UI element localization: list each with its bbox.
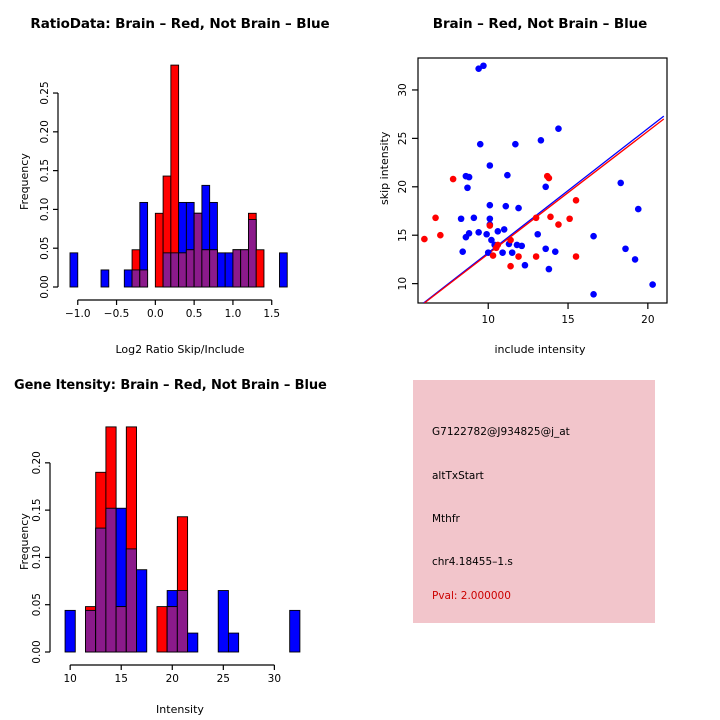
histogram-bar-overlap [241, 250, 249, 287]
x-tick-label: 10 [63, 673, 76, 685]
scatter-point [547, 214, 554, 221]
histogram-bar-blue [228, 633, 238, 652]
reference-line [424, 119, 663, 303]
histogram-bar-blue [101, 270, 109, 287]
histogram-bar-overlap [210, 250, 218, 287]
scatter-point [552, 248, 559, 255]
histogram-bar-overlap [167, 607, 177, 652]
histogram-bar-overlap [132, 270, 140, 287]
histogram-bar-overlap [202, 250, 210, 287]
scatter-point [458, 215, 465, 222]
info-gene-symbol: Mthfr [432, 513, 460, 525]
scatter-point [573, 253, 580, 260]
y-tick-label: 0.10 [39, 198, 51, 221]
y-tick-label: 0.15 [31, 498, 43, 521]
histogram-bar-blue [137, 570, 147, 652]
ratio-histogram-x-axis-label: Log2 Ratio Skip/Include [0, 343, 360, 356]
ratio-histogram-plot: 0.000.050.100.150.200.25−1.0−0.50.00.51.… [0, 0, 360, 360]
y-tick-label: 0.15 [39, 159, 51, 182]
scatter-point [501, 226, 508, 233]
scatter-title: Brain – Red, Not Brain – Blue [360, 16, 720, 32]
histogram-bar-blue [217, 253, 225, 287]
y-tick-label: 0.20 [31, 451, 43, 474]
y-tick-label: 0.25 [39, 81, 51, 104]
scatter-content [421, 62, 664, 303]
scatter-point [432, 214, 439, 221]
histogram-bar-blue [124, 270, 132, 287]
histogram-bar-overlap [194, 213, 202, 287]
ratio-histogram-y-axis-label: Frequency [18, 153, 31, 210]
info-coordinate: chr4.18455–1.s [432, 556, 513, 568]
x-tick-label: −1.0 [65, 308, 91, 320]
scatter-point [546, 175, 553, 182]
y-tick-label: 25 [397, 132, 409, 145]
y-tick-label: 0.10 [31, 546, 43, 569]
x-tick-label: −0.5 [104, 308, 130, 320]
info-panel-background [413, 380, 655, 623]
scatter-point [635, 206, 642, 213]
scatter-point [555, 221, 562, 228]
scatter-x-axis-label: include intensity [360, 343, 720, 356]
scatter-point [509, 249, 516, 256]
histogram-bar-overlap [116, 607, 126, 652]
histogram-bar-overlap [186, 250, 194, 287]
histogram-bar-overlap [126, 549, 136, 652]
scatter-point [502, 203, 509, 210]
scatter-point [515, 253, 522, 260]
scatter-point [480, 62, 487, 69]
scatter-point [522, 262, 529, 269]
scatter-point [459, 248, 466, 255]
panel-intensity-scatter: Brain – Red, Not Brain – Blue skip inten… [360, 0, 720, 360]
histogram-bar-overlap [140, 270, 148, 287]
scatter-point [533, 214, 540, 221]
scatter-point [504, 172, 511, 179]
y-tick-label: 10 [397, 277, 409, 290]
scatter-point [515, 205, 522, 212]
scatter-point [487, 162, 494, 169]
scatter-point [499, 249, 506, 256]
scatter-point [507, 263, 514, 270]
y-tick-label: 0.00 [39, 275, 51, 298]
x-tick-label: 15 [561, 314, 574, 326]
scatter-point [566, 215, 573, 222]
scatter-point [538, 137, 545, 144]
scatter-point [590, 233, 597, 240]
histogram-bar-blue [279, 253, 287, 287]
histogram-bar-red [256, 250, 264, 287]
histogram-bar-overlap [233, 250, 241, 287]
reference-line [424, 116, 664, 303]
scatter-point [649, 281, 656, 288]
figure-canvas: RatioData: Brain – Red, Not Brain – Blue… [0, 0, 720, 720]
panel-ratio-histogram: RatioData: Brain – Red, Not Brain – Blue… [0, 0, 360, 360]
scatter-point [493, 245, 500, 252]
y-tick-label: 20 [397, 180, 409, 193]
scatter-plot: 1015202530101520 [360, 0, 720, 360]
x-tick-label: 30 [268, 673, 281, 685]
scatter-point [437, 232, 444, 239]
x-tick-label: 25 [217, 673, 230, 685]
info-event-type: altTxStart [432, 470, 484, 482]
scatter-point [555, 125, 562, 132]
histogram-bar-blue [65, 610, 75, 652]
x-tick-label: 20 [166, 673, 179, 685]
scatter-point [450, 176, 457, 183]
info-probe-id: G7122782@J934825@j_at [432, 426, 570, 438]
scatter-point [421, 236, 428, 243]
y-tick-label: 0.00 [31, 640, 43, 663]
scatter-point [487, 215, 494, 222]
scatter-point [483, 231, 490, 238]
y-tick-label: 30 [397, 83, 409, 96]
histogram-bar-overlap [179, 253, 187, 287]
x-tick-label: 0.5 [186, 308, 203, 320]
y-tick-label: 0.20 [39, 120, 51, 143]
scatter-point [542, 245, 549, 252]
scatter-point [495, 228, 502, 235]
scatter-point [471, 214, 478, 221]
gene-histogram-x-axis-label: Intensity [0, 703, 360, 716]
scatter-point [590, 291, 597, 298]
histogram-bar-overlap [248, 220, 256, 288]
x-tick-label: 20 [641, 314, 654, 326]
ratio-histogram-title: RatioData: Brain – Red, Not Brain – Blue [0, 16, 360, 32]
histogram-bar-blue [218, 591, 228, 652]
histogram-bar-overlap [177, 591, 187, 652]
scatter-point [573, 197, 580, 204]
scatter-point [617, 180, 624, 187]
histogram-bar-blue [188, 633, 198, 652]
x-tick-label: 10 [482, 314, 495, 326]
panel-gene-info: G7122782@J934825@j_at altTxStart Mthfr c… [360, 360, 720, 720]
histogram-bar-red [157, 607, 167, 652]
scatter-point [512, 141, 519, 148]
histogram-bar-overlap [85, 610, 95, 652]
scatter-point [490, 252, 497, 259]
scatter-point [622, 245, 629, 252]
y-tick-label: 0.05 [31, 593, 43, 616]
scatter-point [533, 253, 540, 260]
gene-histogram-title: Gene Itensity: Brain – Red, Not Brain – … [14, 378, 360, 393]
scatter-point [463, 234, 470, 241]
scatter-point [477, 141, 484, 148]
scatter-point [466, 174, 473, 181]
scatter-point [534, 231, 541, 238]
y-tick-label: 0.05 [39, 237, 51, 260]
x-tick-label: 1.0 [225, 308, 242, 320]
x-tick-label: 1.5 [263, 308, 280, 320]
gene-histogram-plot: 0.000.050.100.150.201015202530 [0, 360, 360, 720]
histogram-bar-overlap [106, 508, 116, 652]
scatter-point [507, 237, 514, 244]
gene-histogram-y-axis-label: Frequency [18, 513, 31, 570]
scatter-point [542, 183, 549, 190]
histogram-bar-red [155, 213, 163, 287]
info-pval: Pval: 2.000000 [432, 590, 511, 602]
scatter-point [518, 243, 525, 250]
scatter-point [546, 266, 553, 273]
x-tick-label: 15 [115, 673, 128, 685]
x-tick-label: 0.0 [147, 308, 164, 320]
histogram-bar-blue [225, 253, 233, 287]
scatter-point [632, 256, 639, 263]
panel-gene-intensity-histogram: Gene Itensity: Brain – Red, Not Brain – … [0, 360, 360, 720]
scatter-point [487, 202, 494, 209]
scatter-point [487, 222, 494, 229]
y-tick-label: 15 [397, 229, 409, 242]
histogram-bar-overlap [163, 253, 171, 287]
histogram-bar-overlap [96, 528, 106, 652]
scatter-point [464, 184, 471, 191]
histogram-bar-blue [290, 610, 300, 652]
scatter-y-axis-label: skip intensity [378, 132, 391, 205]
histogram-bar-overlap [171, 253, 179, 287]
scatter-point [475, 229, 482, 236]
histogram-bar-blue [70, 253, 78, 287]
